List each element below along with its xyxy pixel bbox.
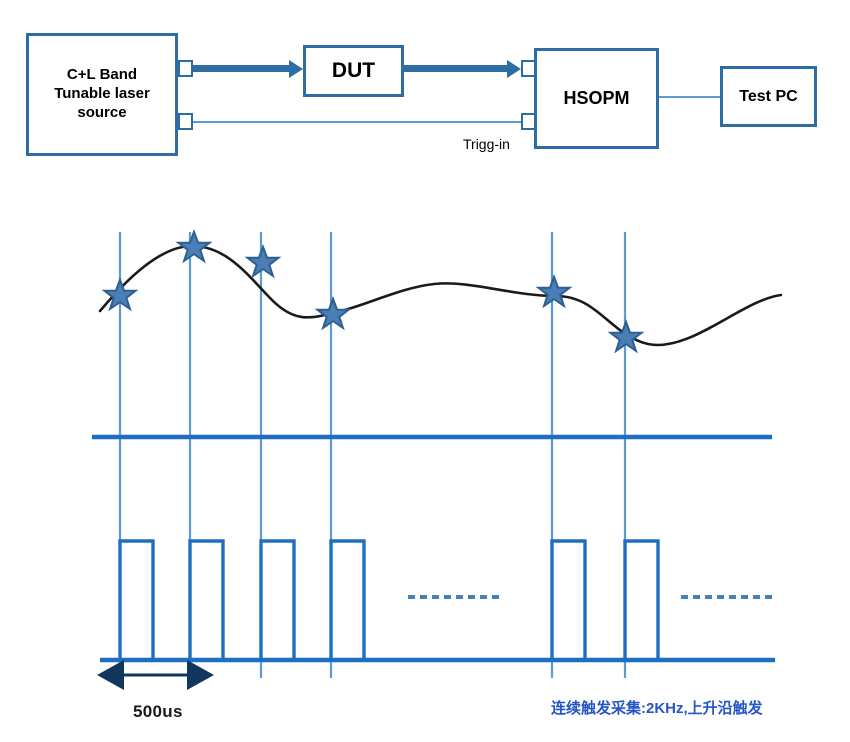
- sample-star: [536, 274, 573, 308]
- figure-root: C+L BandTunable lasersource DUT HSOPM Te…: [0, 0, 850, 742]
- trigger-pulse: [190, 541, 223, 660]
- trigger-pulse: [552, 541, 585, 660]
- trigger-pulse: [625, 541, 658, 660]
- caption-period: 500us: [133, 702, 183, 722]
- trigger-pulse: [261, 541, 294, 660]
- trigger-pulse: [331, 541, 364, 660]
- trigger-pulse-train: [120, 541, 658, 660]
- sample-star: [245, 244, 282, 278]
- timing-diagram: [0, 0, 850, 742]
- sample-star: [315, 296, 352, 330]
- trigger-pulse: [120, 541, 153, 660]
- caption-trigger-note: 连续触发采集:2KHz,上升沿触发: [551, 697, 763, 718]
